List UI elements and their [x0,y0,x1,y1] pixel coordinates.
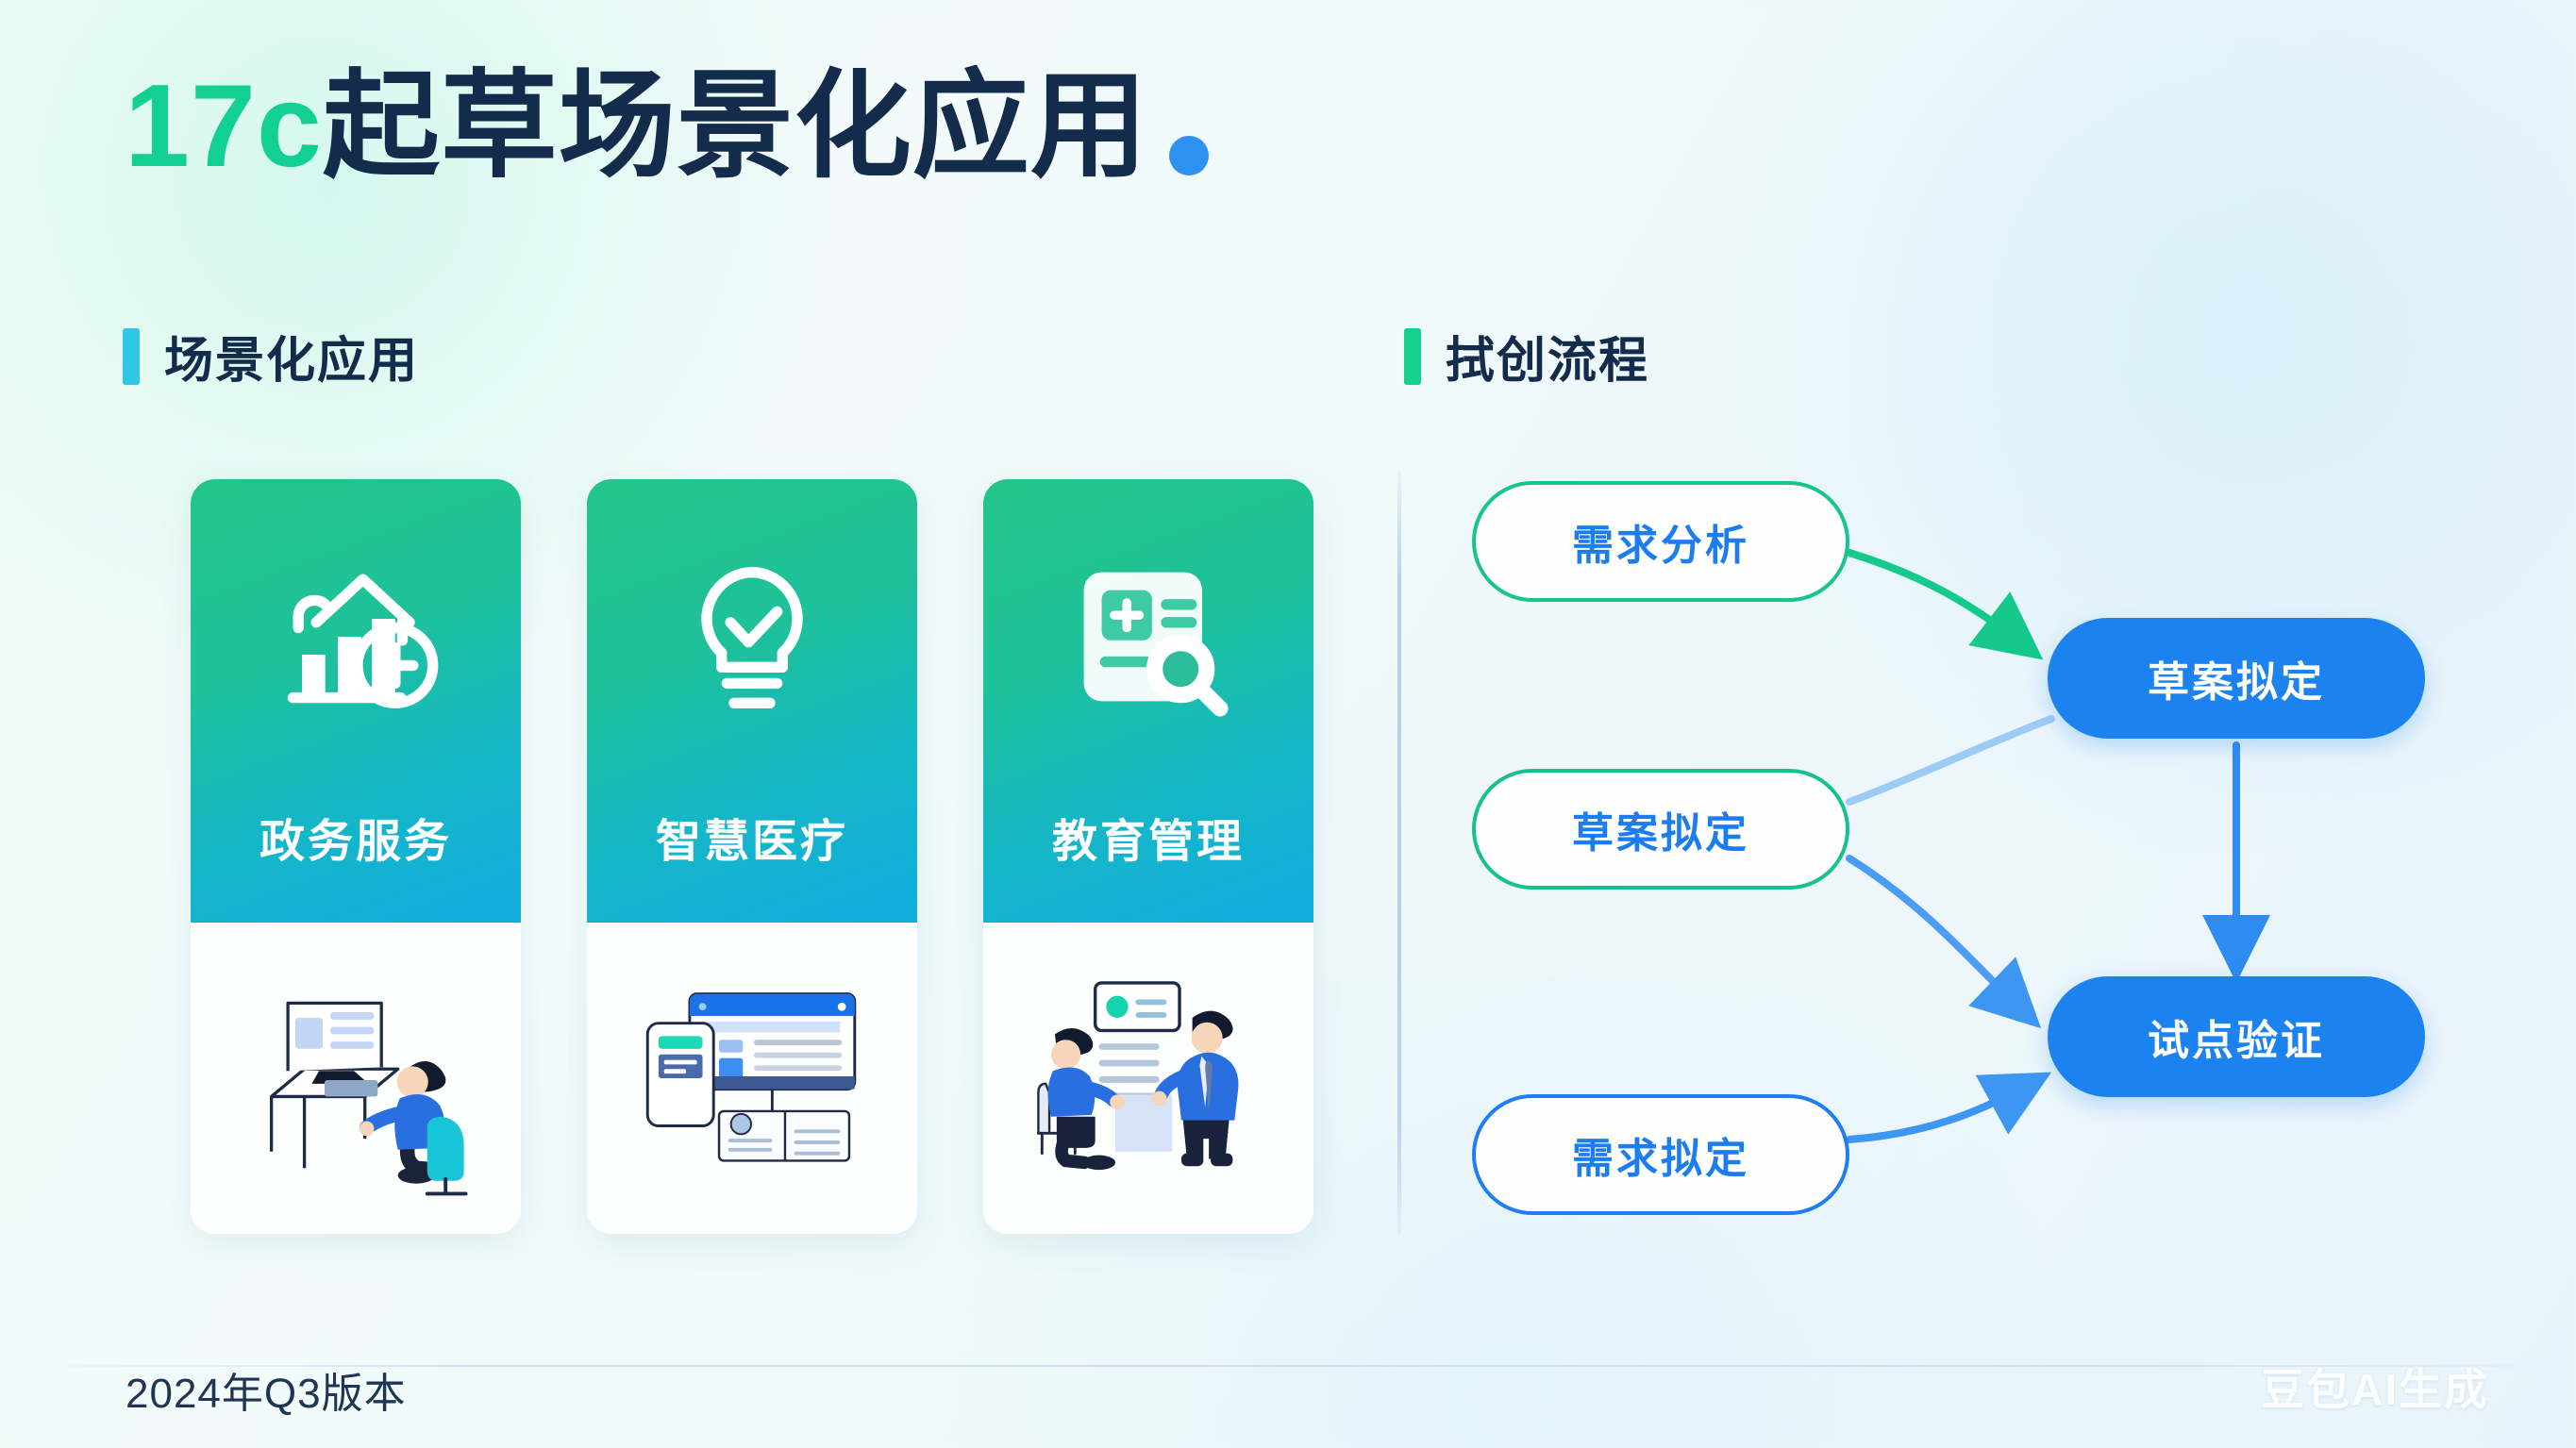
card-label: 教育管理 [983,804,1313,870]
section-accent-bar-icon [123,328,140,385]
watermark-label: 豆包AI生成 [2261,1356,2489,1418]
card-header: 教育管理 [983,479,1313,923]
title-main-text: 起草场景化应用 [323,61,1148,191]
flow-node-label: 草案拟定 [2148,648,2325,708]
devices-ui-mockup-illustration [624,956,880,1201]
page-title: 17c起草场景化应用 [125,68,1209,185]
title-dot-icon [1169,136,1209,175]
version-note: 2024年Q3版本 [125,1359,407,1420]
scenario-card[interactable]: 智慧医疗 [587,479,917,1234]
flow-node-pilot-verification[interactable]: 试点验证 [2048,976,2425,1097]
flow-node-requirement-analysis[interactable]: 需求分析 [1472,481,1849,602]
lightbulb-check-icon [662,547,842,726]
section-accent-bar-icon [1404,328,1421,385]
card-header: 智慧医疗 [587,479,917,923]
flow-node-label: 需求拟定 [1572,1124,1749,1185]
flow-node-label: 试点验证 [2148,1007,2325,1067]
person-at-desk-illustration [227,956,484,1201]
card-label: 智慧医疗 [587,804,917,870]
flow-node-draft-formulation[interactable]: 草案拟定 [2048,618,2425,739]
vertical-divider [1397,472,1401,1234]
section-heading-scenarios: 场景化应用 [123,321,419,391]
scenario-card-list: 政务服务 [191,479,1313,1234]
flow-node-draft-formulation-left[interactable]: 草案拟定 [1472,769,1849,890]
scenario-card[interactable]: 教育管理 [983,479,1313,1234]
card-illustration-area [587,923,917,1234]
card-label: 政务服务 [191,804,521,870]
scenario-card[interactable]: 政务服务 [191,479,521,1234]
section-heading-label: 拭创流程 [1446,321,1649,391]
section-heading-label: 场景化应用 [164,321,419,391]
two-people-meeting-illustration [1020,956,1277,1201]
process-flow-diagram: 需求分析 草案拟定 需求拟定 草案拟定 试点验证 [1453,462,2519,1245]
card-illustration-area [191,923,521,1234]
flow-node-requirement-formulation[interactable]: 需求拟定 [1472,1094,1849,1215]
card-illustration-area [983,923,1313,1234]
house-barchart-plus-icon [266,547,445,726]
flow-node-label: 草案拟定 [1572,799,1749,859]
calculator-search-icon [1059,547,1238,726]
flow-node-label: 需求分析 [1572,511,1749,572]
title-accent-text: 17c [125,61,323,191]
card-header: 政务服务 [191,479,521,923]
section-heading-process: 拭创流程 [1404,321,1649,391]
